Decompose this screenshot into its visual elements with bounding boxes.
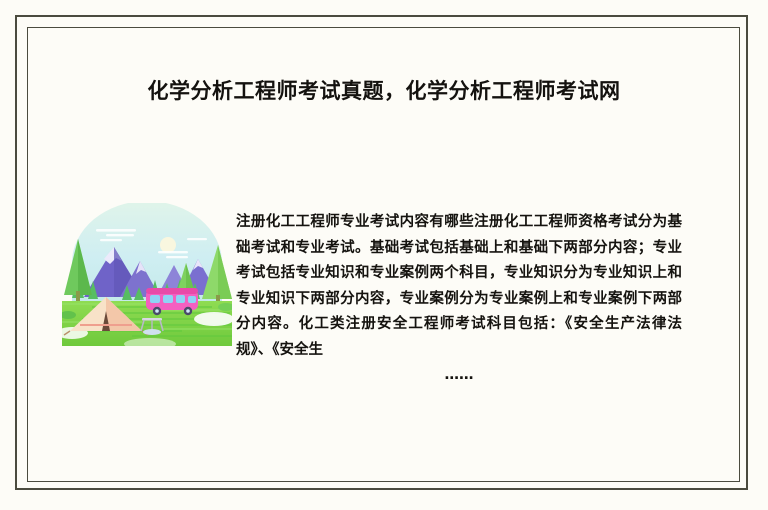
camping-scene-illustration [62, 203, 232, 346]
article-text: 注册化工工程师专业考试内容有哪些注册化工工程师资格考试分为基础考试和专业考试。基… [236, 214, 682, 358]
page-title: 化学分析工程师考试真题，化学分析工程师考试网 [0, 76, 768, 106]
document-page: 化学分析工程师考试真题，化学分析工程师考试网 [0, 0, 768, 510]
article-paragraph: 注册化工工程师专业考试内容有哪些注册化工工程师资格考试分为基础考试和专业考试。基… [236, 210, 682, 389]
article-ellipsis: …… [236, 363, 682, 389]
camping-scene-svg [62, 203, 232, 346]
